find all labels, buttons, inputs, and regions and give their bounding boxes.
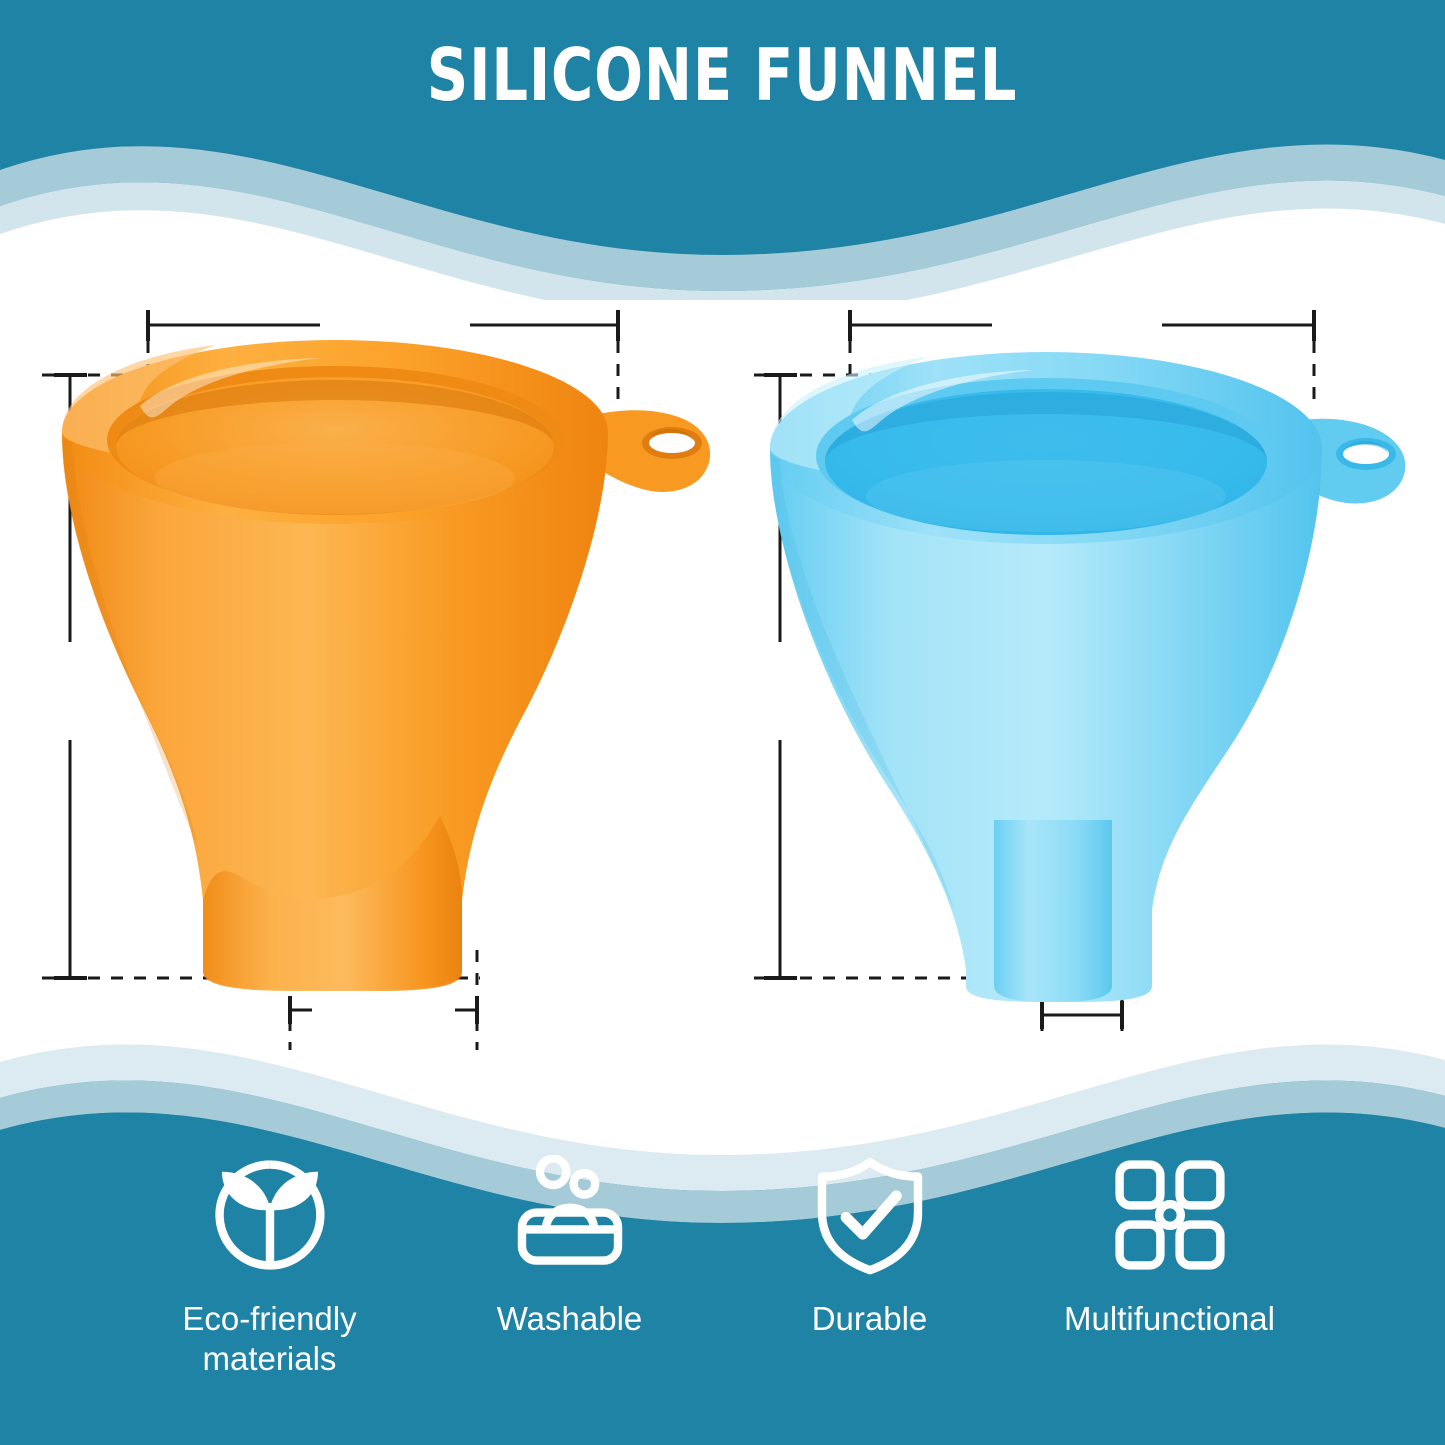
feature-multifunctional: Multifunctional	[1020, 1155, 1320, 1339]
feature-durable: Durable	[720, 1155, 1020, 1339]
feature-washable-label: Washable	[497, 1299, 643, 1339]
eco-leaf-circle-icon	[210, 1155, 330, 1275]
blue-funnel-block	[722, 210, 1444, 1070]
blue-funnel-drawing	[722, 210, 1444, 1070]
feature-label-line1: Eco-friendly	[182, 1300, 356, 1337]
wash-basin-bubbles-icon	[510, 1155, 630, 1275]
page-title: SILICONE FUNNEL	[427, 33, 1017, 117]
blue-funnel-body	[770, 352, 1405, 1002]
feature-durable-label: Durable	[812, 1299, 928, 1339]
orange-funnel-drawing	[0, 210, 722, 1070]
feature-label-line2: materials	[203, 1340, 337, 1377]
feature-multifunctional-label: Multifunctional	[1064, 1299, 1275, 1339]
feature-eco-friendly-label: Eco-friendly materials	[182, 1299, 356, 1380]
feature-row: Eco-friendly materials Washable Durable	[0, 1155, 1445, 1445]
shield-check-icon	[810, 1155, 930, 1275]
feature-eco-friendly: Eco-friendly materials	[120, 1155, 420, 1380]
poster-title-bar: SILICONE FUNNEL	[0, 0, 1445, 150]
product-infographic: SILICONE FUNNEL	[0, 0, 1445, 1445]
four-panel-grid-icon	[1110, 1155, 1230, 1275]
feature-washable: Washable	[420, 1155, 720, 1339]
orange-funnel-body	[62, 340, 710, 991]
orange-funnel-block	[0, 210, 722, 1070]
product-illustration-area	[0, 210, 1445, 1070]
